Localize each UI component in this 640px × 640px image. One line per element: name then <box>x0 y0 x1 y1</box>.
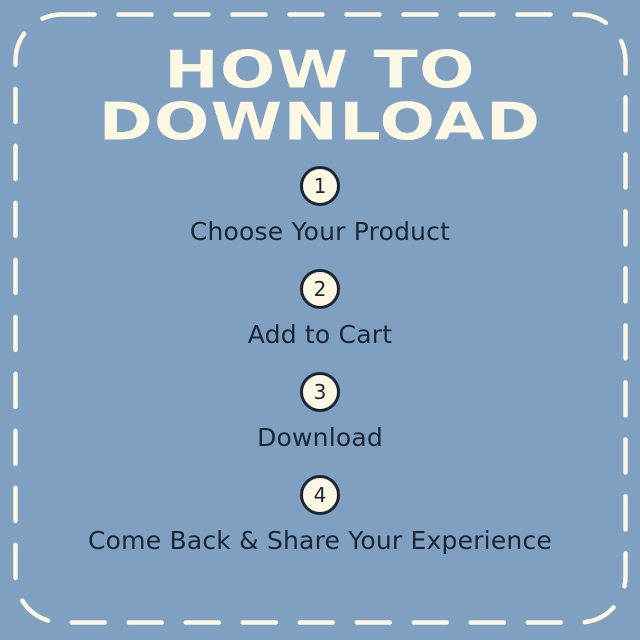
step-label-1: Choose Your Product <box>0 217 640 247</box>
step-badge-3: 3 <box>300 372 340 412</box>
step-number-2: 2 <box>314 279 327 299</box>
page-title: HOW TO DOWNLOAD <box>0 44 640 146</box>
title-line-2: DOWNLOAD <box>0 96 640 148</box>
step-item-3: 3 Download <box>0 372 640 453</box>
how-to-download-poster: HOW TO DOWNLOAD 1 Choose Your Product 2 … <box>0 0 640 640</box>
step-badge-1: 1 <box>300 166 340 206</box>
step-badge-4: 4 <box>300 475 340 515</box>
step-item-4: 4 Come Back & Share Your Experience <box>0 475 640 556</box>
step-label-3: Download <box>0 423 640 453</box>
title-line-1: HOW TO <box>0 44 640 96</box>
steps-list: 1 Choose Your Product 2 Add to Cart 3 Do… <box>0 166 640 578</box>
step-item-1: 1 Choose Your Product <box>0 166 640 247</box>
step-number-3: 3 <box>314 382 327 402</box>
step-number-4: 4 <box>314 485 327 505</box>
step-label-2: Add to Cart <box>0 320 640 350</box>
step-number-1: 1 <box>314 176 327 196</box>
step-badge-2: 2 <box>300 269 340 309</box>
step-item-2: 2 Add to Cart <box>0 269 640 350</box>
step-label-4: Come Back & Share Your Experience <box>0 526 640 556</box>
